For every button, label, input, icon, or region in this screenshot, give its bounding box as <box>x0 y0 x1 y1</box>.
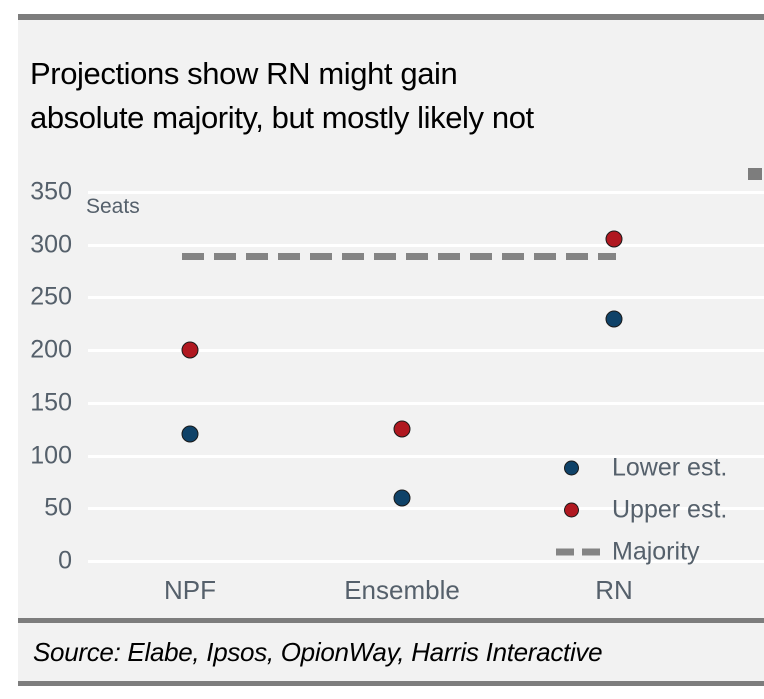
data-point <box>394 489 411 506</box>
top-rule <box>18 14 764 20</box>
x-tick-label: Ensemble <box>344 575 460 606</box>
y-tick-label: 300 <box>0 230 72 259</box>
legend-item-upper: Upper est. <box>556 489 764 531</box>
y-tick-label: 250 <box>0 283 72 312</box>
y-tick-label: 50 <box>0 494 72 523</box>
legend-dot-lower-icon <box>556 459 602 477</box>
legend-dashed-line-icon <box>556 543 602 561</box>
gridline <box>88 402 764 405</box>
source-note: Source: Elabe, Ipsos, OpionWay, Harris I… <box>33 637 764 668</box>
plot-area: 350300250200150100500 Seats NPFEnsembleR… <box>0 165 764 585</box>
gridline <box>88 244 764 247</box>
y-axis-unit-label: Seats <box>86 195 140 219</box>
chart-figure: Projections show RN might gain absolute … <box>0 0 764 699</box>
legend-label-upper: Upper est. <box>612 496 727 525</box>
data-point <box>182 426 199 443</box>
y-tick-label: 0 <box>0 547 72 576</box>
data-point <box>606 310 623 327</box>
data-point <box>182 342 199 359</box>
legend-label-lower: Lower est. <box>612 454 727 483</box>
bottom-rule <box>18 681 764 686</box>
y-tick-label: 200 <box>0 336 72 365</box>
data-point <box>606 231 623 248</box>
gridline <box>88 296 764 299</box>
data-point <box>394 421 411 438</box>
y-tick-label: 150 <box>0 388 72 417</box>
chart-title: Projections show RN might gain absolute … <box>30 52 760 140</box>
y-tick-label: 350 <box>0 178 72 207</box>
x-tick-label: RN <box>595 575 633 606</box>
footer-top-rule <box>18 618 764 623</box>
y-tick-label: 100 <box>0 441 72 470</box>
legend-label-majority: Majority <box>612 538 700 567</box>
chart-legend: Lower est. Upper est. Majority <box>556 447 764 573</box>
gridline <box>88 191 764 194</box>
legend-item-majority: Majority <box>556 531 764 573</box>
x-tick-label: NPF <box>164 575 216 606</box>
legend-item-lower: Lower est. <box>556 447 764 489</box>
majority-reference-line <box>182 253 616 260</box>
legend-dot-upper-icon <box>556 501 602 519</box>
